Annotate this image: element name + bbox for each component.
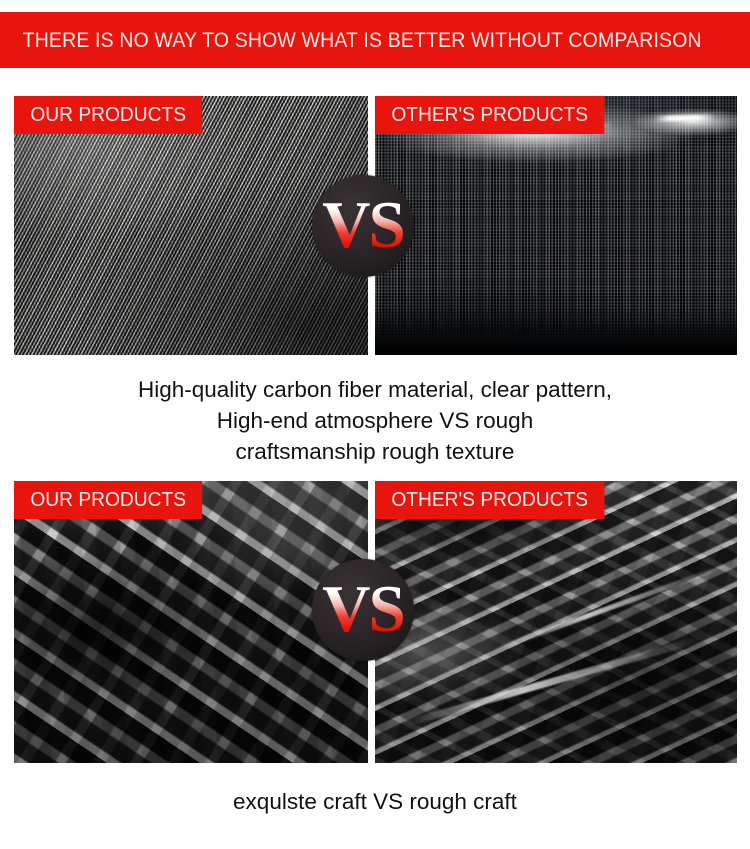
caption-line: craftsmanship rough texture <box>0 436 750 467</box>
vs-label-1: VS <box>322 192 404 259</box>
product-image-theirs-1: OTHER'S PRODUCTS <box>375 96 737 355</box>
caption-line: High-quality carbon fiber material, clea… <box>0 374 750 405</box>
caption-row-1: High-quality carbon fiber material, clea… <box>0 374 750 467</box>
forged-shards-shading <box>375 481 737 763</box>
headline-text: THERE IS NO WAY TO SHOW WHAT IS BETTER W… <box>0 28 702 53</box>
caption-row-2: exqulste craft VS rough craft <box>0 786 750 817</box>
vs-label-2: VS <box>322 576 404 643</box>
comparison-infographic: THERE IS NO WAY TO SHOW WHAT IS BETTER W… <box>0 0 750 849</box>
panel-bottom-shadow <box>375 314 737 355</box>
caption-line: exqulste craft VS rough craft <box>0 786 750 817</box>
label-our-products-2: OUR PRODUCTS <box>14 481 202 519</box>
vs-medallion-1: VS <box>312 175 414 277</box>
caption-line: High-end atmosphere VS rough <box>0 405 750 436</box>
label-others-products-1: OTHER'S PRODUCTS <box>375 96 604 134</box>
label-others-products-2: OTHER'S PRODUCTS <box>375 481 604 519</box>
headline-banner: THERE IS NO WAY TO SHOW WHAT IS BETTER W… <box>0 12 750 68</box>
vs-medallion-2: VS <box>312 559 414 661</box>
product-image-theirs-2: OTHER'S PRODUCTS <box>375 481 737 763</box>
label-our-products-1: OUR PRODUCTS <box>14 96 202 134</box>
